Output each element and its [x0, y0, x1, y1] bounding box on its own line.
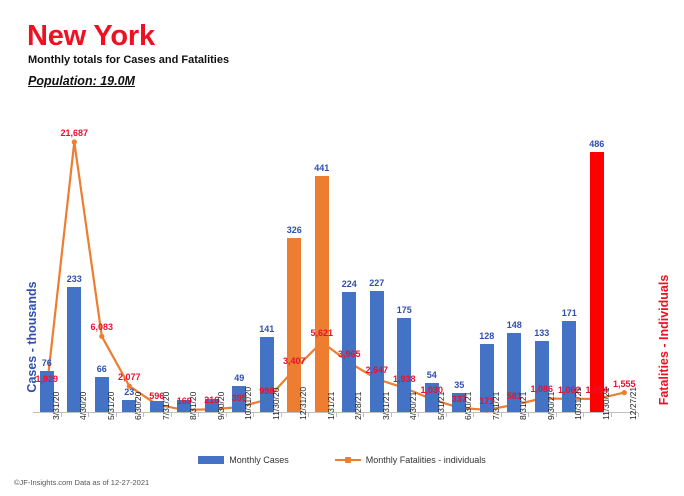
- bar-value-label: 175: [384, 305, 424, 315]
- bar-11-30-21[interactable]: [590, 152, 604, 412]
- page-title: New York: [27, 22, 155, 51]
- bar-1-31-21[interactable]: [315, 176, 329, 412]
- x-axis-tick: [473, 413, 474, 417]
- legend-label-cases: Monthly Cases: [229, 455, 289, 465]
- x-axis-tick: [198, 413, 199, 417]
- fatalities-value-label: 2,077: [107, 372, 151, 382]
- fatalities-value-label: 5,621: [300, 328, 344, 338]
- x-axis-label: 12/27/21: [628, 387, 638, 420]
- legend-item-fatalities[interactable]: Monthly Fatalities - individuals: [335, 455, 486, 465]
- fatalities-value-label: 998: [245, 386, 289, 396]
- bar-value-label: 227: [357, 278, 397, 288]
- bar-value-label: 54: [412, 370, 452, 380]
- x-axis-label: 11/30/20: [271, 388, 281, 420]
- bar-value-label: 133: [522, 328, 562, 338]
- x-axis-label: 9/30/21: [546, 392, 556, 420]
- fatalities-value-label: 6,083: [80, 322, 124, 332]
- x-axis-label: 4/30/21: [408, 392, 418, 420]
- x-axis-tick: [638, 413, 639, 417]
- x-axis-tick: [253, 413, 254, 417]
- page-subtitle: Monthly totals for Cases and Fatalities: [28, 54, 229, 66]
- x-axis-label: 3/31/21: [381, 392, 391, 420]
- legend-label-fatalities: Monthly Fatalities - individuals: [366, 455, 486, 465]
- x-axis-tick: [418, 413, 419, 417]
- bar-value-label: 35: [439, 380, 479, 390]
- fatalities-value-label: 21,687: [52, 128, 96, 138]
- bar-12-31-20[interactable]: [287, 238, 301, 412]
- x-axis-label: 12/31/20: [298, 387, 308, 420]
- bar-value-label: 233: [54, 274, 94, 284]
- fatalities-value-label: 1,929: [25, 374, 69, 384]
- bar-swatch-icon: [198, 456, 224, 464]
- x-axis-label: 1/31/21: [326, 392, 336, 420]
- x-axis-label: 2/28/21: [353, 392, 363, 420]
- x-axis-tick: [583, 413, 584, 417]
- x-axis-tick: [88, 413, 89, 417]
- fatalities-value-label: 3,407: [272, 356, 316, 366]
- line-swatch-icon: [335, 456, 361, 464]
- bar-value-label: 486: [577, 139, 617, 149]
- x-axis-tick: [528, 413, 529, 417]
- x-axis-tick: [143, 413, 144, 417]
- bar-value-label: 49: [219, 373, 259, 383]
- bar-value-label: 326: [274, 225, 314, 235]
- population-note: Population: 19.0M: [28, 74, 135, 88]
- x-axis-label: 4/30/20: [78, 392, 88, 420]
- x-axis-label: 11/30/21: [601, 388, 611, 420]
- x-axis-tick: [363, 413, 364, 417]
- chart-page: New York Monthly totals for Cases and Fa…: [0, 0, 684, 496]
- bar-value-label: 441: [302, 163, 342, 173]
- fatalities-value-label: 1,555: [602, 379, 646, 389]
- bar-value-label: 141: [247, 324, 287, 334]
- x-axis-label: 8/31/21: [518, 392, 528, 420]
- y-axis-title-right: Fatalities - Individuals: [657, 265, 671, 415]
- x-axis-tick: [308, 413, 309, 417]
- x-axis-label: 3/31/20: [51, 392, 61, 420]
- legend-item-cases[interactable]: Monthly Cases: [198, 455, 289, 465]
- bar-value-label: 128: [467, 331, 507, 341]
- bar-value-label: 76: [27, 358, 67, 368]
- footer-credit: ©JF-Insights.com Data as of 12-27-2021: [14, 478, 149, 487]
- fatalities-value-label: 3,965: [327, 349, 371, 359]
- bar-value-label: 171: [549, 308, 589, 318]
- chart-legend: Monthly Cases Monthly Fatalities - indiv…: [0, 455, 684, 465]
